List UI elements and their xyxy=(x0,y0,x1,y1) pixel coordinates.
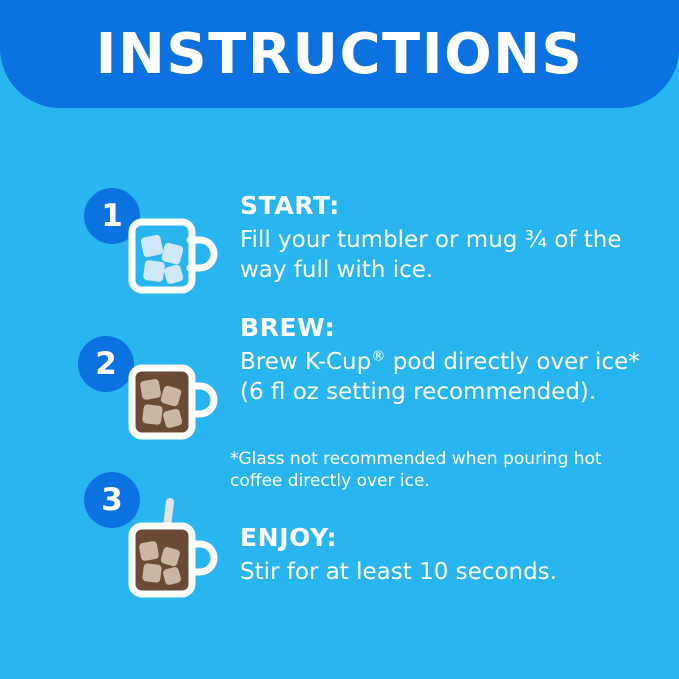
step-3-text: ENJOY: Stir for at least 10 seconds. xyxy=(240,524,650,587)
registered-mark: ® xyxy=(371,348,385,364)
step-1-heading: START: xyxy=(240,192,640,221)
step-2-heading: BREW: xyxy=(240,314,650,343)
step-1-text: START: Fill your tumbler or mug ¾ of the… xyxy=(240,192,640,286)
page-title: INSTRUCTIONS xyxy=(0,22,679,87)
mug-with-coffee-icon xyxy=(126,360,218,449)
step-2-body-pre: Brew K-Cup xyxy=(240,349,371,375)
step-1-body: Fill your tumbler or mug ¾ of the way fu… xyxy=(240,225,640,286)
step-2-body: Brew K-Cup® pod directly over ice* (6 fl… xyxy=(240,347,650,408)
mug-with-spoon-icon xyxy=(126,498,218,607)
step-3-heading: ENJOY: xyxy=(240,524,650,553)
step-3-body: Stir for at least 10 seconds. xyxy=(240,557,650,588)
instructions-page: INSTRUCTIONS 1 START: Fill your tumbler … xyxy=(0,0,679,679)
step-2-footnote: *Glass not recommended when pouring hot … xyxy=(230,448,650,493)
mug-with-ice-icon xyxy=(126,214,218,303)
step-2-text: BREW: Brew K-Cup® pod directly over ice*… xyxy=(240,314,650,408)
